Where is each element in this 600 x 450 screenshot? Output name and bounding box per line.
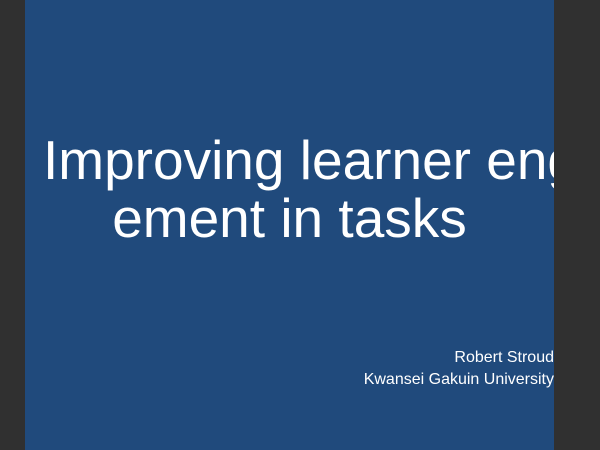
slide-author-block: Robert Stroud Kwansei Gakuin University [364,347,554,391]
author-affiliation: Kwansei Gakuin University [364,369,554,391]
slide-title-line-1: Improving learner engag [43,131,554,189]
slide-canvas: Improving learner engag ement in tasks R… [25,0,554,450]
letterbox-right [554,0,600,450]
slide-title-line-2: ement in tasks [25,189,554,247]
author-name: Robert Stroud [364,347,554,369]
slide-title: Improving learner engag ement in tasks [25,131,554,247]
presentation-slide-viewport: Improving learner engag ement in tasks R… [0,0,600,450]
letterbox-left [0,0,25,450]
